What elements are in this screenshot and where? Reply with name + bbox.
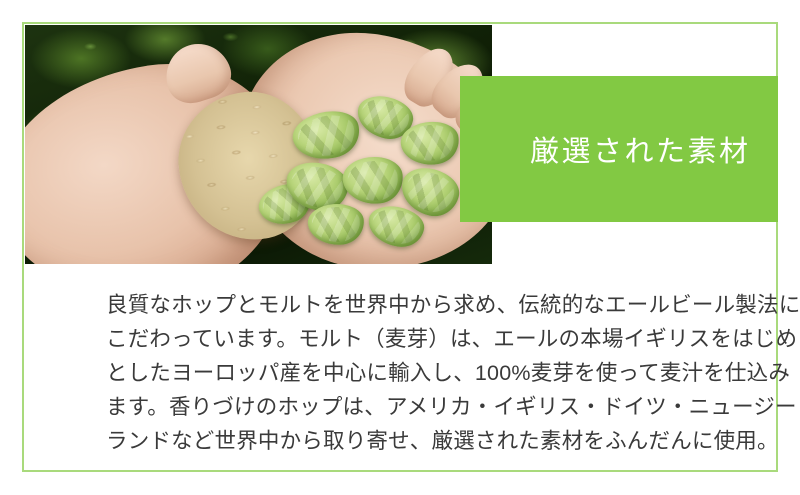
ingredients-photo xyxy=(25,25,492,264)
hop-cone xyxy=(307,202,366,247)
body-line: 良質なホップとモルトを世界中から求め、伝統的なエールビール製法に xyxy=(106,288,738,322)
hop-cone xyxy=(288,105,365,167)
body-line: としたヨーロッパ産を中心に輸入し、100%麦芽を使って麦汁を仕込み xyxy=(106,356,738,390)
section-banner: 厳選された素材 xyxy=(460,76,778,222)
banner-heading: 厳選された素材 xyxy=(530,128,751,170)
hop-cone-cluster xyxy=(282,87,469,245)
body-line: ます。香りづけのホップは、アメリカ・イギリス・ドイツ・ニュージー xyxy=(106,390,738,424)
body-line: こだわっています。モルト（麦芽）は、エールの本場イギリスをはじめ xyxy=(106,322,738,356)
body-description: 良質なホップとモルトを世界中から求め、伝統的なエールビール製法に こだわっていま… xyxy=(106,288,738,458)
photo-background-foliage xyxy=(25,25,492,264)
hop-cone xyxy=(341,154,405,207)
body-line: ランドなど世界中から取り寄せ、厳選された素材をふんだんに使用。 xyxy=(106,424,738,458)
page-root: 厳選された素材 良質なホップとモルトを世界中から求め、伝統的なエールビール製法に… xyxy=(0,0,800,495)
